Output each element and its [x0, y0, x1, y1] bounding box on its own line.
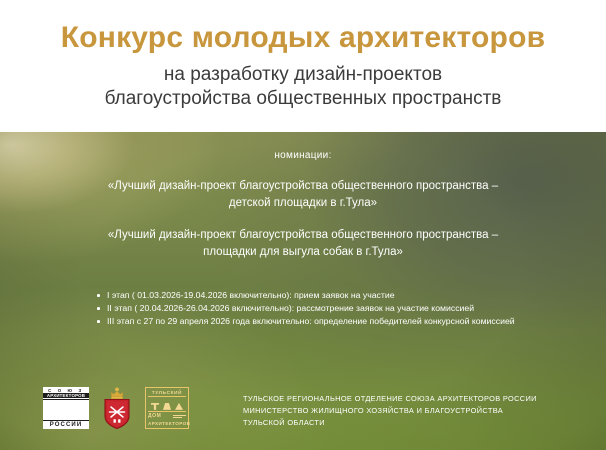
nominations-section: номинации: «Лучший дизайн-проект благоус…: [0, 150, 606, 261]
stage-3-text: III этап с 27 по 29 апреля 2026 года вкл…: [107, 316, 515, 326]
house-logo-bars-icon: [173, 415, 186, 418]
nomination-2-line-1: «Лучший дизайн-проект благоустройства об…: [0, 227, 606, 244]
coat-of-arms-svg: [100, 386, 134, 430]
nomination-item: «Лучший дизайн-проект благоустройства об…: [0, 178, 606, 211]
union-of-architects-logo: С О Ю З АРХИТЕКТОРОВ РОССИИ: [43, 387, 89, 429]
organizers-text: Тульское региональное отделение союза ар…: [243, 393, 537, 429]
organizer-line-2: Министерство жилищного хозяйства и благо…: [243, 405, 537, 417]
poster-header: Конкурс молодых архитекторов на разработ…: [0, 0, 606, 132]
page-subtitle-line-1: на разработку дизайн-проектов: [0, 63, 606, 86]
nomination-1-line-1: «Лучший дизайн-проект благоустройства об…: [0, 178, 606, 195]
tee-shape-icon: [151, 403, 159, 410]
list-item: I этап ( 01.03.2026-19.04.2026 включител…: [96, 289, 516, 302]
logo-group: С О Ю З АРХИТЕКТОРОВ РОССИИ: [43, 386, 189, 430]
tula-coat-of-arms-icon: [100, 386, 134, 430]
nomination-2-line-2: площадки для выгула собак в г.Тула»: [0, 244, 606, 261]
house-logo-title: ТУЛЬСКИЙ: [148, 390, 186, 397]
house-logo-middle: ДОМ: [148, 413, 161, 419]
photo-content: номинации: «Лучший дизайн-проект благоус…: [0, 132, 606, 450]
nomination-1-line-2: детской площадки в г.Тула»: [0, 195, 606, 212]
tula-house-of-architects-logo: ТУЛЬСКИЙ ДОМ АРХИТЕКТОРОВ: [145, 387, 189, 429]
bullet-icon: [97, 307, 100, 310]
trapezoid-shape-icon: [163, 403, 171, 410]
bullet-icon: [97, 294, 100, 297]
nomination-item: «Лучший дизайн-проект благоустройства об…: [0, 227, 606, 260]
page-title: Конкурс молодых архитекторов: [0, 0, 606, 54]
stages-list: I этап ( 01.03.2026-19.04.2026 включител…: [96, 289, 516, 329]
list-item: II этап ( 20.04.2026-26.04.2026 включите…: [96, 302, 516, 315]
house-logo-middle-row: ДОМ: [148, 411, 186, 419]
bullet-icon: [97, 320, 100, 323]
union-logo-line-2: АРХИТЕКТОРОВ: [43, 393, 89, 398]
organizer-line-3: Тульской области: [243, 417, 537, 429]
union-logo-bottom: РОССИИ: [43, 420, 89, 428]
stage-2-text: II этап ( 20.04.2026-26.04.2026 включите…: [107, 303, 474, 313]
union-logo-top: С О Ю З АРХИТЕКТОРОВ: [43, 388, 89, 400]
poster-footer: С О Ю З АРХИТЕКТОРОВ РОССИИ: [0, 382, 606, 450]
triangle-shape-icon: [175, 403, 183, 410]
background-photo: номинации: «Лучший дизайн-проект благоус…: [0, 132, 606, 450]
list-item: III этап с 27 по 29 апреля 2026 года вкл…: [96, 315, 516, 328]
organizer-line-1: Тульское региональное отделение союза ар…: [243, 393, 537, 405]
house-logo-icons: [148, 398, 186, 410]
page-subtitle: на разработку дизайн-проектов благоустро…: [0, 54, 606, 109]
house-logo-bottom: АРХИТЕКТОРОВ: [148, 420, 186, 426]
stage-1-text: I этап ( 01.03.2026-19.04.2026 включител…: [107, 290, 395, 300]
poster: Конкурс молодых архитекторов на разработ…: [0, 0, 606, 450]
page-subtitle-line-2: благоустройства общественных пространств: [0, 87, 606, 110]
nominations-label: номинации:: [0, 150, 606, 162]
